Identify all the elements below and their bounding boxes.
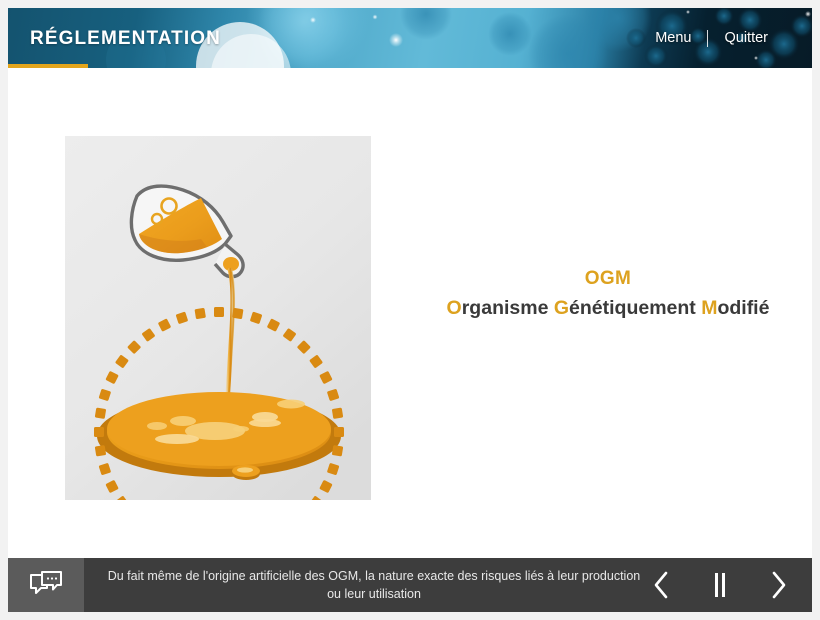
previous-button[interactable]	[640, 563, 684, 607]
illustration-panel	[65, 136, 371, 500]
chevron-right-icon	[766, 570, 790, 600]
closed-captions-button[interactable]	[8, 558, 84, 612]
pause-button[interactable]	[698, 563, 742, 607]
expansion-cap-o: O	[447, 297, 462, 319]
acronym-expansion: Organisme Génétiquement Modifié	[420, 297, 796, 320]
caption-text: Du fait même de l'origine artificielle d…	[94, 558, 654, 612]
expansion-cap-g: G	[554, 297, 569, 319]
slide-content: OGM Organisme Génétiquement Modifié	[8, 68, 812, 558]
expansion-cap-m: M	[701, 297, 717, 319]
pause-icon	[709, 570, 731, 600]
chevron-left-icon	[650, 570, 674, 600]
header-accent-bar	[8, 64, 88, 68]
speech-bubbles-icon	[29, 571, 63, 599]
gear-drop-shape	[232, 465, 260, 480]
app-header: RÉGLEMENTATION Menu Quitter	[8, 8, 812, 68]
acronym-heading: OGM	[420, 268, 796, 290]
quit-button[interactable]: Quitter	[708, 30, 784, 46]
elearning-player-window: RÉGLEMENTATION Menu Quitter	[0, 0, 820, 620]
next-button[interactable]	[756, 563, 800, 607]
player-bar: Du fait même de l'origine artificielle d…	[8, 558, 812, 612]
flask-pouring-onto-gear-illustration	[65, 136, 371, 500]
expansion-rest-m: odifié	[717, 297, 769, 319]
page-title: RÉGLEMENTATION	[30, 28, 221, 50]
menu-button[interactable]: Menu	[639, 30, 707, 46]
expansion-rest-o: rganisme	[462, 297, 554, 319]
concept-text-block: OGM Organisme Génétiquement Modifié	[420, 268, 796, 320]
player-shell: RÉGLEMENTATION Menu Quitter	[8, 8, 812, 612]
expansion-rest-g: énétiquement	[569, 297, 701, 319]
header-nav: Menu Quitter	[639, 8, 784, 68]
player-controls	[640, 558, 800, 612]
